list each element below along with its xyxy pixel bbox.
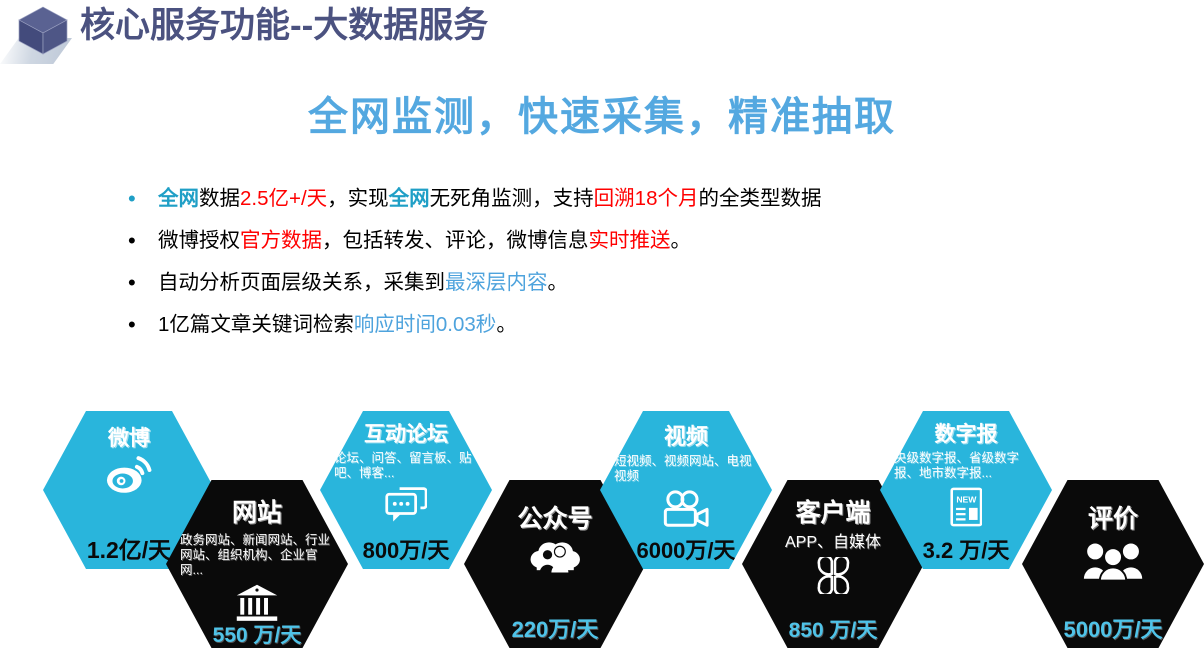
bullet-text: 1亿篇文章关键词检索响应时间0.03秒。 [158, 304, 517, 346]
bullet-segment: 1亿篇文章关键词检索 [158, 313, 354, 336]
page-header: 核心服务功能--大数据服务 [0, 0, 1204, 66]
bullet-text: 微博授权官方数据，包括转发、评论，微博信息实时推送。 [158, 220, 691, 262]
hexagon-title: 网站 [232, 500, 282, 528]
bullet-marker-icon: • [128, 220, 158, 262]
bullet-segment: 。 [496, 313, 517, 336]
hexagon-value: 6000万/天 [636, 539, 735, 563]
people-cloud-icon [529, 539, 582, 575]
hexagon-title: 数字报 [935, 423, 998, 446]
bullet-segment: 。 [548, 271, 569, 294]
bullet-segment: 实时推送 [589, 229, 671, 252]
chat-bubble-icon [385, 487, 427, 523]
hexagon-title: 评价 [1088, 506, 1138, 534]
cube-icon [16, 5, 70, 57]
bullet-segment: 官方数据 [240, 229, 322, 252]
hexagon-subtitle: 央级数字报、省级数字报、地市数字报... [880, 451, 1052, 482]
hexagon-value: 550 万/天 [213, 624, 302, 647]
bullet-item: •全网数据2.5亿+/天，实现全网无死角监测，支持回溯18个月的全类型数据 [128, 178, 1128, 220]
bullet-segment: ，实现 [327, 187, 389, 210]
bullet-item: •微博授权官方数据，包括转发、评论，微博信息实时推送。 [128, 220, 1128, 262]
bullet-text: 自动分析页面层级关系，采集到最深层内容。 [158, 262, 568, 304]
bullet-segment: 响应时间0.03秒 [354, 313, 496, 336]
bullet-segment: 微博授权 [158, 229, 240, 252]
hexagon-value: 800万/天 [363, 539, 450, 563]
hexagon-subtitle: 短视频、视频网站、电视视频 [600, 454, 772, 485]
bullet-marker-icon: • [128, 262, 158, 304]
hexagon-subtitle: 论坛、问答、留言板、贴吧、博客... [320, 451, 492, 482]
bullet-item: •1亿篇文章关键词检索响应时间0.03秒。 [128, 304, 1128, 346]
hexagon-subtitle: APP、自媒体 [773, 533, 893, 553]
bullet-marker-icon: • [128, 304, 158, 346]
bullet-segment: ，包括转发、评论，微博信息 [322, 229, 589, 252]
bullet-segment: 数据 [199, 187, 240, 210]
bullet-segment: 无死角监测，支持 [430, 187, 594, 210]
three-people-icon [1082, 539, 1144, 583]
hexagon-title: 视频 [664, 425, 708, 449]
hexagon-content: 互动论坛论坛、问答、留言板、贴吧、博客... 800万/天 [320, 411, 492, 569]
hexagon-title: 互动论坛 [364, 423, 448, 446]
bullet-segment: 全网 [389, 187, 430, 210]
hexagon-title: 公众号 [517, 506, 592, 534]
bank-building-icon [235, 583, 279, 623]
hexagon-value: 3.2 万/天 [923, 539, 1010, 563]
bullet-segment: 最深层内容 [445, 271, 548, 294]
bullet-text: 全网数据2.5亿+/天，实现全网无死角监测，支持回溯18个月的全类型数据 [158, 178, 821, 220]
svg-text:NEW: NEW [956, 494, 977, 504]
hexagon-value: 850 万/天 [789, 619, 878, 642]
channel-hexagon-row: 微博 1.2亿/天网站政务网站、新闻网站、行业网站、组织机构、企业官网... 5… [0, 395, 1204, 658]
channel-hexagon-forum[interactable]: 互动论坛论坛、问答、留言板、贴吧、博客... 800万/天 [320, 411, 492, 569]
hexagon-value: 5000万/天 [1063, 618, 1162, 642]
bullet-list: •全网数据2.5亿+/天，实现全网无死角监测，支持回溯18个月的全类型数据•微博… [128, 178, 1128, 346]
hexagon-subtitle: 政务网站、新闻网站、行业网站、组织机构、企业官网... [166, 533, 348, 579]
bullet-segment: 自动分析页面层级关系，采集到 [158, 271, 445, 294]
section-subtitle-text: 全网监测，快速采集，精准抽取 [308, 84, 896, 142]
hexagon-title: 客户端 [795, 500, 870, 528]
section-subtitle: 全网监测，快速采集，精准抽取 [0, 84, 1204, 142]
newspaper-new-icon: NEW [950, 487, 983, 527]
bullet-segment: 2.5亿+/天 [240, 187, 327, 210]
hexagon-value: 220万/天 [512, 618, 599, 642]
bullet-segment: 的全类型数据 [698, 187, 821, 210]
bullet-segment: 。 [671, 229, 692, 252]
video-camera-icon [662, 490, 710, 529]
bullet-segment: 回溯18个月 [594, 187, 699, 210]
hexagon-content: 评价 5000万/天 [1022, 480, 1204, 648]
clover-icon [815, 557, 852, 594]
weibo-eye-icon [105, 455, 153, 494]
hexagon-value: 1.2亿/天 [87, 538, 171, 563]
bullet-segment: 全网 [158, 187, 199, 210]
bullet-item: •自动分析页面层级关系，采集到最深层内容。 [128, 262, 1128, 304]
hexagon-title: 微博 [108, 427, 150, 450]
page-title: 核心服务功能--大数据服务 [80, 2, 488, 50]
channel-hexagon-review[interactable]: 评价 5000万/天 [1022, 480, 1204, 648]
bullet-marker-icon: • [128, 178, 158, 220]
